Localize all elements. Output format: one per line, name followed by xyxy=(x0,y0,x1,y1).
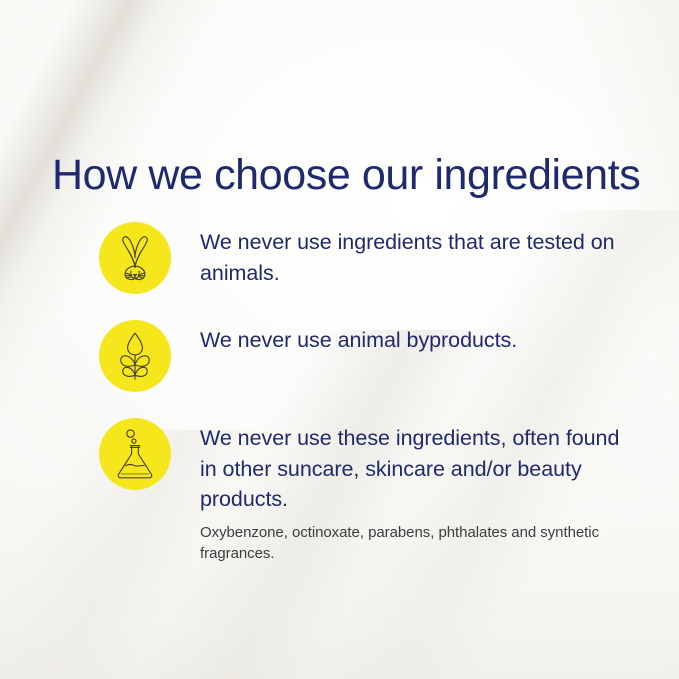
plant-sprout-leaf-icon xyxy=(99,320,171,392)
claim-subtext-excluded-ingredients: Oxybenzone, octinoxate, parabens, phthal… xyxy=(200,522,639,565)
claim-item-cruelty-free: We never use ingredients that are tested… xyxy=(99,222,639,294)
claim-text-block: We never use ingredients that are tested… xyxy=(171,222,639,288)
claim-heading: We never use animal byproducts. xyxy=(200,325,639,356)
claim-text-block: We never use these ingredients, often fo… xyxy=(171,418,639,564)
erlenmeyer-flask-icon xyxy=(99,418,171,490)
bunny-heart-ears-icon xyxy=(99,222,171,294)
claim-heading: We never use ingredients that are tested… xyxy=(200,227,639,288)
claim-item-no-harsh-chemicals: We never use these ingredients, often fo… xyxy=(99,418,639,564)
claims-list: We never use ingredients that are tested… xyxy=(99,222,639,564)
content-area: How we choose our ingredients xyxy=(0,0,679,679)
claim-text-block: We never use animal byproducts. xyxy=(171,320,639,356)
claim-item-no-animal-byproducts: We never use animal byproducts. xyxy=(99,320,639,392)
page-title: How we choose our ingredients xyxy=(52,151,640,200)
claim-heading: We never use these ingredients, often fo… xyxy=(200,423,639,515)
ingredient-claims-graphic: How we choose our ingredients xyxy=(0,0,679,679)
